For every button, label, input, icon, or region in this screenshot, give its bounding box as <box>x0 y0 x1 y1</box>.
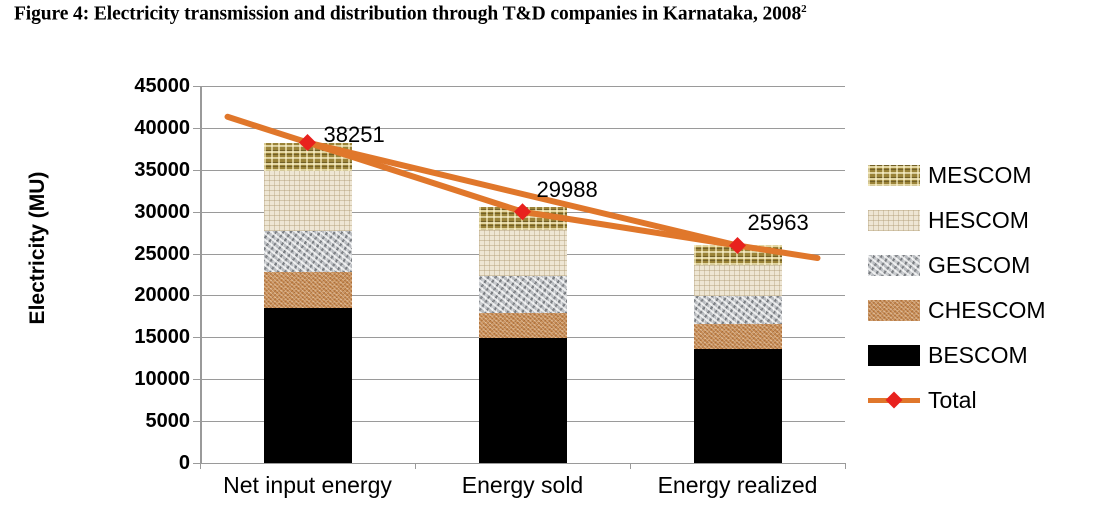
bar-segment-bescom[interactable] <box>479 338 567 463</box>
bar-segment-bescom[interactable] <box>694 349 782 463</box>
bar-segment-hescom[interactable] <box>694 265 782 296</box>
y-axis-tick-label: 10000 <box>100 369 190 389</box>
y-axis-tick <box>193 379 200 380</box>
legend-item-label: BESCOM <box>928 342 1028 369</box>
chescom-pattern-swatch <box>868 300 920 321</box>
y-axis-tick-labels: 4500040000350003000025000200001500010000… <box>95 86 190 463</box>
total-data-label: 25963 <box>748 212 809 234</box>
gridline <box>200 463 845 464</box>
legend-item-gescom[interactable]: GESCOM <box>868 243 1113 288</box>
legend-item-label: CHESCOM <box>928 297 1046 324</box>
y-axis-tick <box>193 463 200 464</box>
bar-segment-chescom[interactable] <box>264 272 352 308</box>
y-axis-tick <box>193 295 200 296</box>
x-axis-tick <box>845 463 846 469</box>
bar-segment-bescom[interactable] <box>264 308 352 463</box>
x-axis-tick <box>415 463 416 469</box>
y-axis-tick-label: 5000 <box>100 411 190 431</box>
mescom-pattern-swatch <box>868 165 920 186</box>
y-axis-tick <box>193 86 200 87</box>
bar-segment-hescom[interactable] <box>264 171 352 231</box>
legend-item-label: MESCOM <box>928 162 1032 189</box>
figure-caption-text: Figure 4: Electricity transmission and d… <box>14 4 801 25</box>
legend-item-hescom[interactable]: HESCOM <box>868 198 1113 243</box>
chart-legend: MESCOMHESCOMGESCOMCHESCOMBESCOMTotal <box>868 153 1113 423</box>
y-axis-title: Electricity (MU) <box>26 148 50 348</box>
legend-item-label: Total <box>928 387 977 414</box>
bar-segment-chescom[interactable] <box>479 313 567 338</box>
bescom-solid-swatch <box>868 345 920 366</box>
bar-segment-mescom[interactable] <box>694 245 782 265</box>
legend-item-mescom[interactable]: MESCOM <box>868 153 1113 198</box>
y-axis-tick-label: 30000 <box>100 202 190 222</box>
y-axis-line <box>200 86 202 463</box>
bar-stack[interactable] <box>479 86 567 463</box>
legend-item-total[interactable]: Total <box>868 378 1113 423</box>
y-axis-tick-label: 40000 <box>100 118 190 138</box>
x-axis-tick-label: Energy sold <box>403 472 643 499</box>
gescom-pattern-swatch <box>868 255 920 276</box>
total-data-label: 38251 <box>324 124 385 146</box>
x-axis-tick-label: Net input energy <box>188 472 428 499</box>
x-axis-tick-label: Energy realized <box>618 472 858 499</box>
y-axis-tick <box>193 254 200 255</box>
y-axis-tick <box>193 128 200 129</box>
bar-segment-chescom[interactable] <box>694 324 782 348</box>
figure-caption: Figure 4: Electricity transmission and d… <box>14 3 1104 26</box>
bar-segment-hescom[interactable] <box>479 230 567 276</box>
y-axis-tick <box>193 212 200 213</box>
legend-item-chescom[interactable]: CHESCOM <box>868 288 1113 333</box>
bar-segment-gescom[interactable] <box>694 296 782 324</box>
legend-item-bescom[interactable]: BESCOM <box>868 333 1113 378</box>
y-axis-tick-label: 25000 <box>100 244 190 264</box>
bar-segment-gescom[interactable] <box>264 231 352 272</box>
y-axis-tick-label: 45000 <box>100 76 190 96</box>
plot-area: 382512998825963 Net input energyEnergy s… <box>200 86 845 463</box>
total-data-label: 29988 <box>537 179 598 201</box>
y-axis-tick-label: 0 <box>100 453 190 473</box>
chart-area: Electricity (MU) 45000400003500030000250… <box>0 48 1119 525</box>
legend-item-label: HESCOM <box>928 207 1029 234</box>
y-axis-tick <box>193 170 200 171</box>
x-axis-tick <box>200 463 201 469</box>
bar-segment-mescom[interactable] <box>479 207 567 229</box>
y-axis-tick-label: 20000 <box>100 285 190 305</box>
total-line-marker-icon <box>868 390 920 411</box>
bar-segment-mescom[interactable] <box>264 143 352 171</box>
y-axis-tick <box>193 421 200 422</box>
legend-item-label: GESCOM <box>928 252 1030 279</box>
legend-diamond-icon <box>886 392 903 409</box>
figure-caption-superscript: 2 <box>801 3 806 15</box>
bar-segment-gescom[interactable] <box>479 276 567 313</box>
hescom-pattern-swatch <box>868 210 920 231</box>
x-axis-tick <box>630 463 631 469</box>
y-axis-tick <box>193 337 200 338</box>
bar-stack[interactable] <box>694 86 782 463</box>
y-axis-tick-label: 15000 <box>100 327 190 347</box>
y-axis-tick-label: 35000 <box>100 160 190 180</box>
